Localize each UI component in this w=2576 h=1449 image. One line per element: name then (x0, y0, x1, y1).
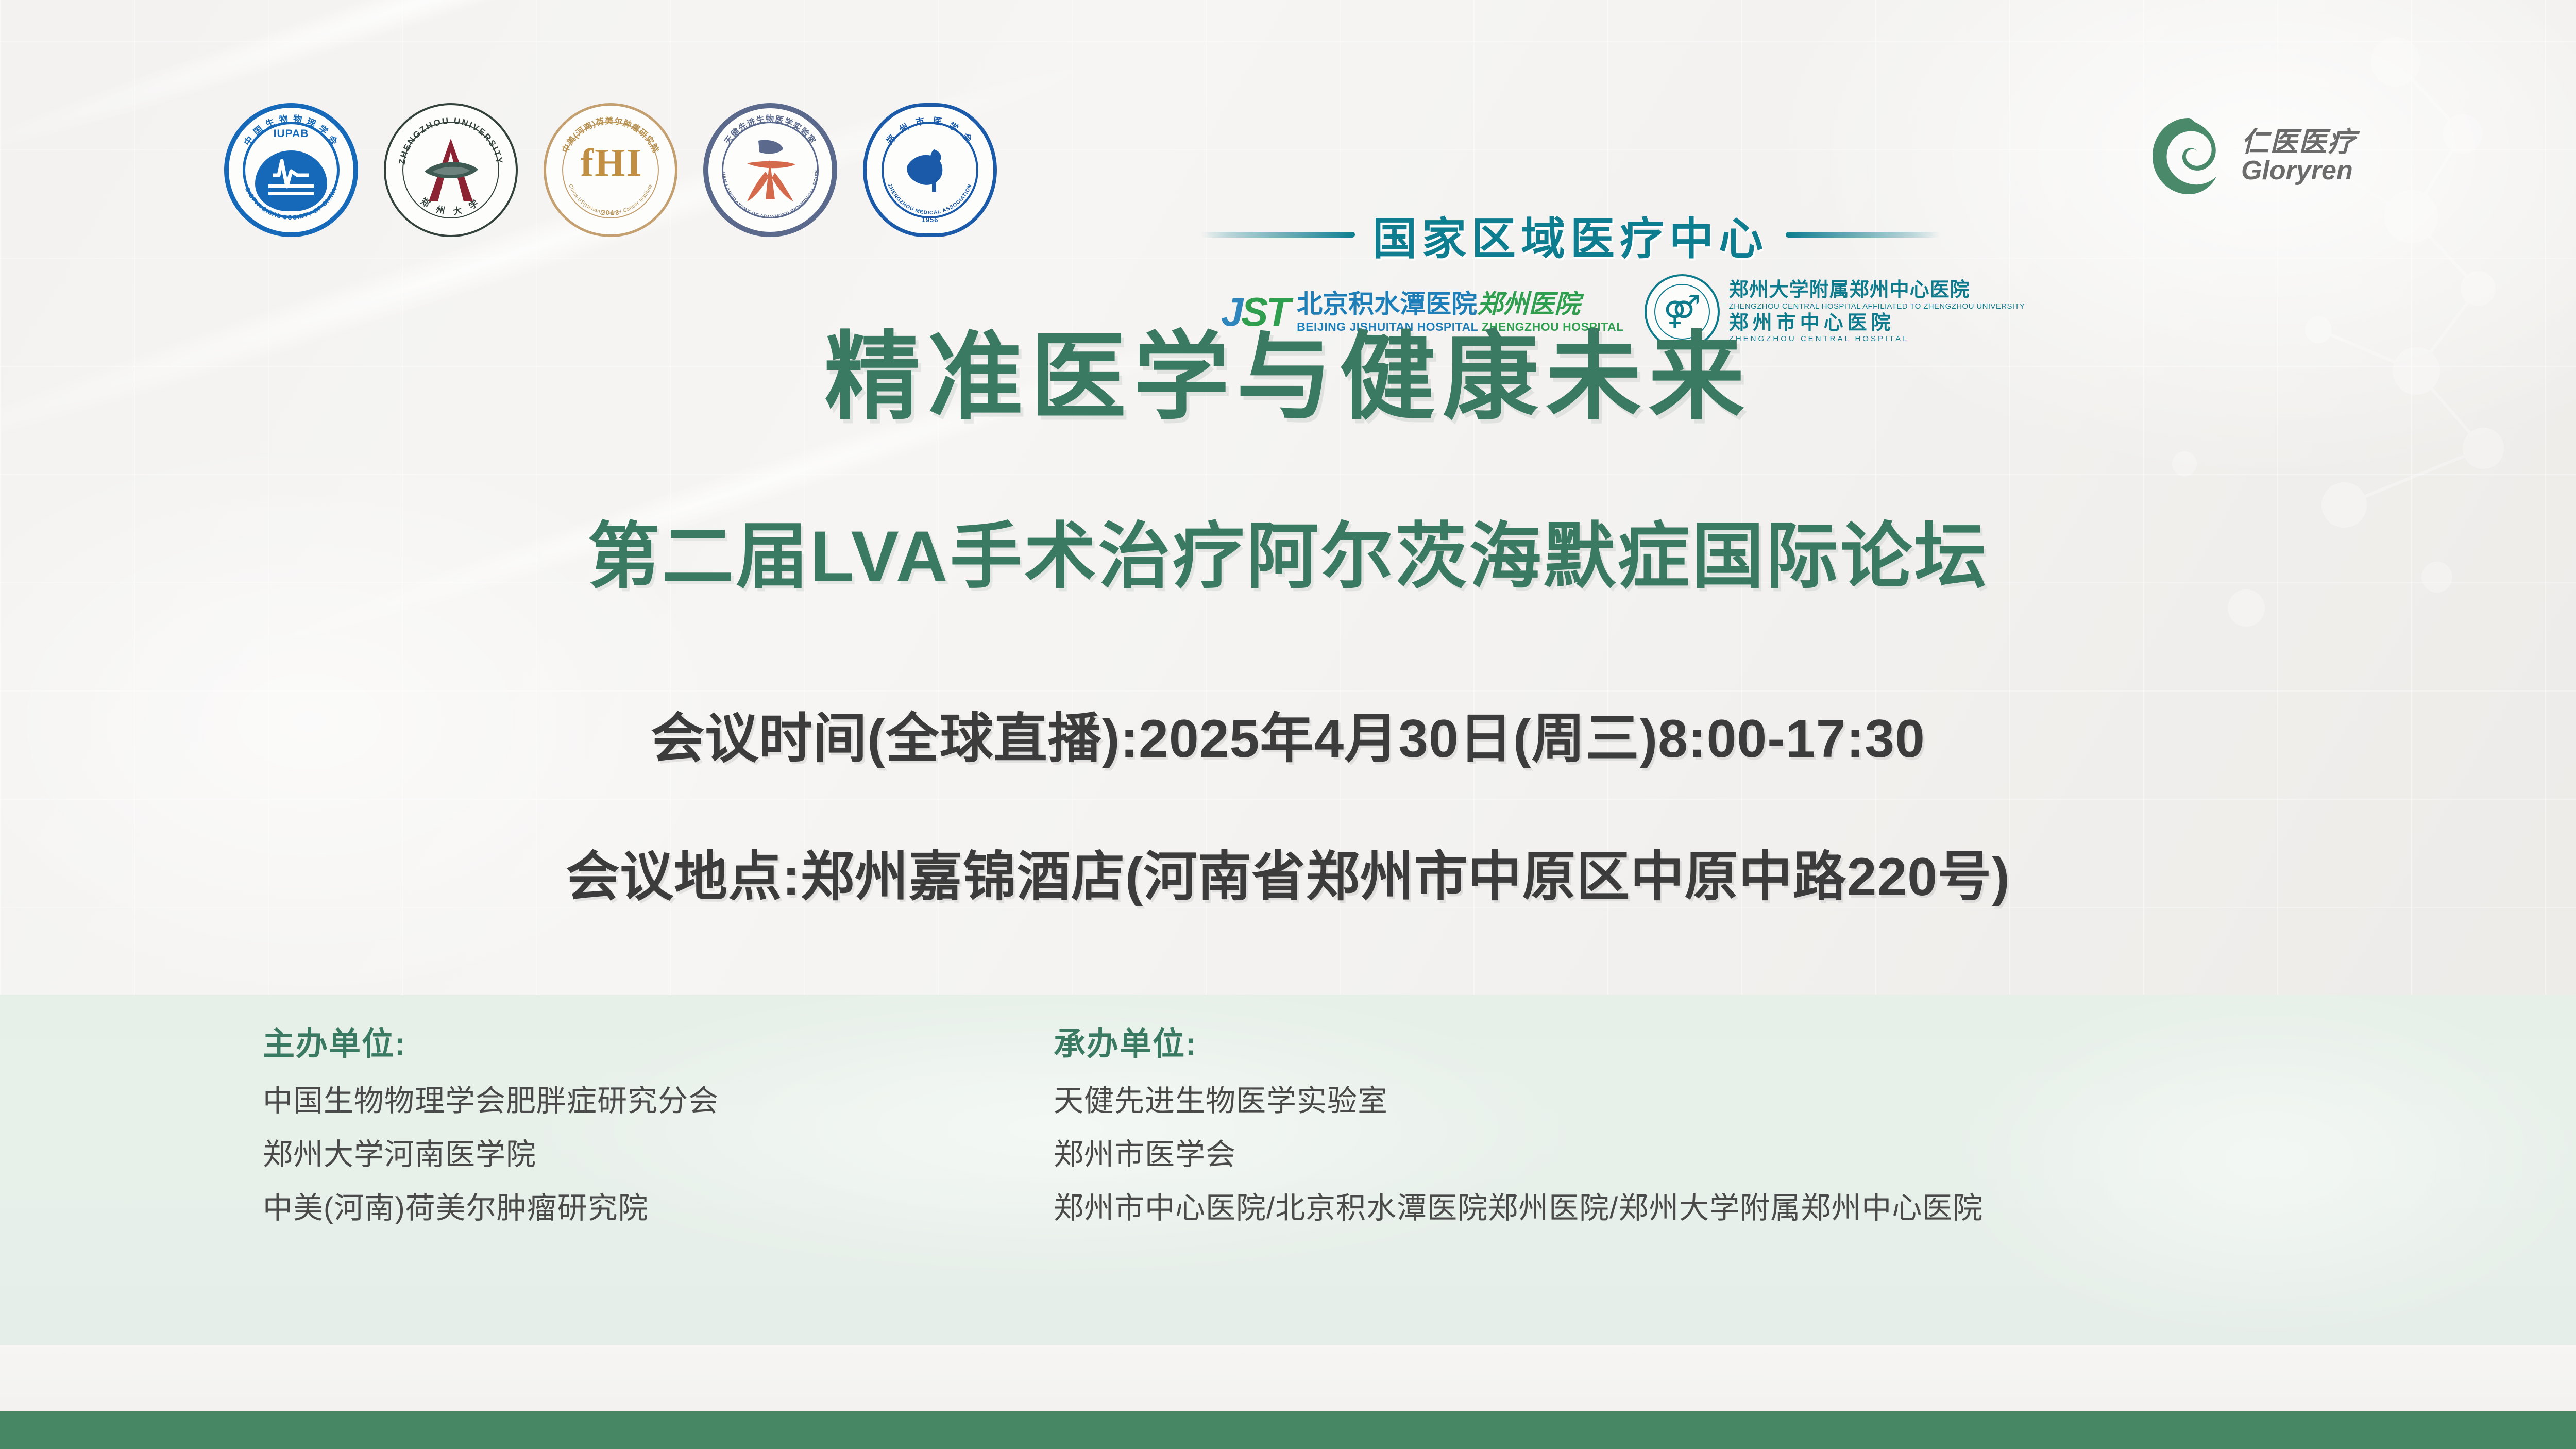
seal1-acronym: IUPAB (224, 128, 358, 140)
national-center-title: 国家区域医疗中心 (1372, 203, 1768, 267)
seal1-wave-icon (261, 153, 321, 209)
divider-line-right (1786, 232, 1940, 238)
cohost-item: 天健先进生物医学实验室 (1054, 1086, 1983, 1116)
seal3-year: 2013 (544, 209, 677, 216)
host-item: 中美(河南)荷美尔肿瘤研究院 (263, 1193, 719, 1223)
asclepius-icon: ⚤ (1663, 296, 1701, 328)
cohost-item: 郑州市中心医院/北京积水潭医院郑州医院/郑州大学附属郑州中心医院 (1054, 1193, 1983, 1223)
divider-line-left (1200, 232, 1355, 238)
logo-tianjian-laboratory: 天健先进生物医学实验室 TIANJIAN LABORATORY OF ADVAN… (703, 103, 837, 237)
jst-cn-blue: 北京积水潭医院 (1297, 290, 1477, 318)
bottom-green-bar (0, 1411, 2576, 1449)
cohost-organizer-column: 承办单位: 天健先进生物医学实验室 郑州市医学会 郑州市中心医院/北京积水潭医院… (1054, 1029, 1983, 1247)
gloryren-en: Gloryren (2241, 157, 2357, 184)
seal5-year: 1956 (863, 216, 997, 224)
meeting-time: 会议时间(全球直播):2025年4月30日(周三)8:00-17:30 (0, 712, 2576, 766)
organizer-panel: 主办单位: 中国生物物理学会肥胖症研究分会 郑州大学河南医学院 中美(河南)荷美… (0, 995, 2576, 1345)
jst-cn-green: 郑州医院 (1477, 290, 1580, 318)
gloryren-cn: 仁医医疗 (2241, 128, 2357, 157)
logo-biophysical-society-of-china: 中 国 生 物 物 理 学 会 BIOPHYSICAL SOCIETY OF C… (224, 103, 358, 237)
gloryren-spiral-icon (2147, 115, 2230, 197)
zcp-line1-cn: 郑州大学附属郑州中心医院 (1729, 280, 2025, 301)
host-heading: 主办单位: (263, 1029, 719, 1060)
bottom-white-strip (0, 1345, 2576, 1411)
logo-china-hormel-cancer-institute: 中美(河南)荷美尔肿瘤研究院 China-US(Henan) Hormel Ca… (544, 103, 677, 237)
meeting-venue: 会议地点:郑州嘉锦酒店(河南省郑州市中原区中原中路220号) (0, 850, 2576, 904)
cohost-heading: 承办单位: (1054, 1029, 1983, 1060)
seal5-emblem-henan-map (894, 134, 966, 206)
host-item: 郑州大学河南医学院 (263, 1140, 719, 1170)
host-item: 中国生物物理学会肥胖症研究分会 (263, 1086, 719, 1116)
cohost-item: 郑州市医学会 (1054, 1140, 1983, 1170)
seal2-emblem (412, 131, 489, 209)
zcp-line1-en: ZHENGZHOU CENTRAL HOSPITAL AFFILIATED TO… (1729, 302, 2025, 311)
logo-gloryren: 仁医医疗 Gloryren (2147, 115, 2357, 197)
partner-logo-row: 中 国 生 物 物 理 学 会 BIOPHYSICAL SOCIETY OF C… (0, 95, 2576, 250)
page-subtitle: 第二届LVA手术治疗阿尔茨海默症国际论坛 (0, 520, 2576, 593)
host-organizer-column: 主办单位: 中国生物物理学会肥胖症研究分会 郑州大学河南医学院 中美(河南)荷美… (263, 1029, 719, 1247)
seal3-monogram: f H I (544, 143, 677, 182)
page-title: 精准医学与健康未来 (0, 330, 2576, 426)
conference-banner: 中 国 生 物 物 理 学 会 BIOPHYSICAL SOCIETY OF C… (0, 0, 2576, 1449)
logo-zhengzhou-medical-association: 郑 州 市 医 学 会 ZHENGZHOU MEDICAL ASSOCIATIO… (863, 103, 997, 237)
logo-zhengzhou-university: ZHENGZHOU UNIVERSITY 郑 州 大 学 (384, 103, 518, 237)
seal4-glyph-tian (732, 131, 809, 209)
